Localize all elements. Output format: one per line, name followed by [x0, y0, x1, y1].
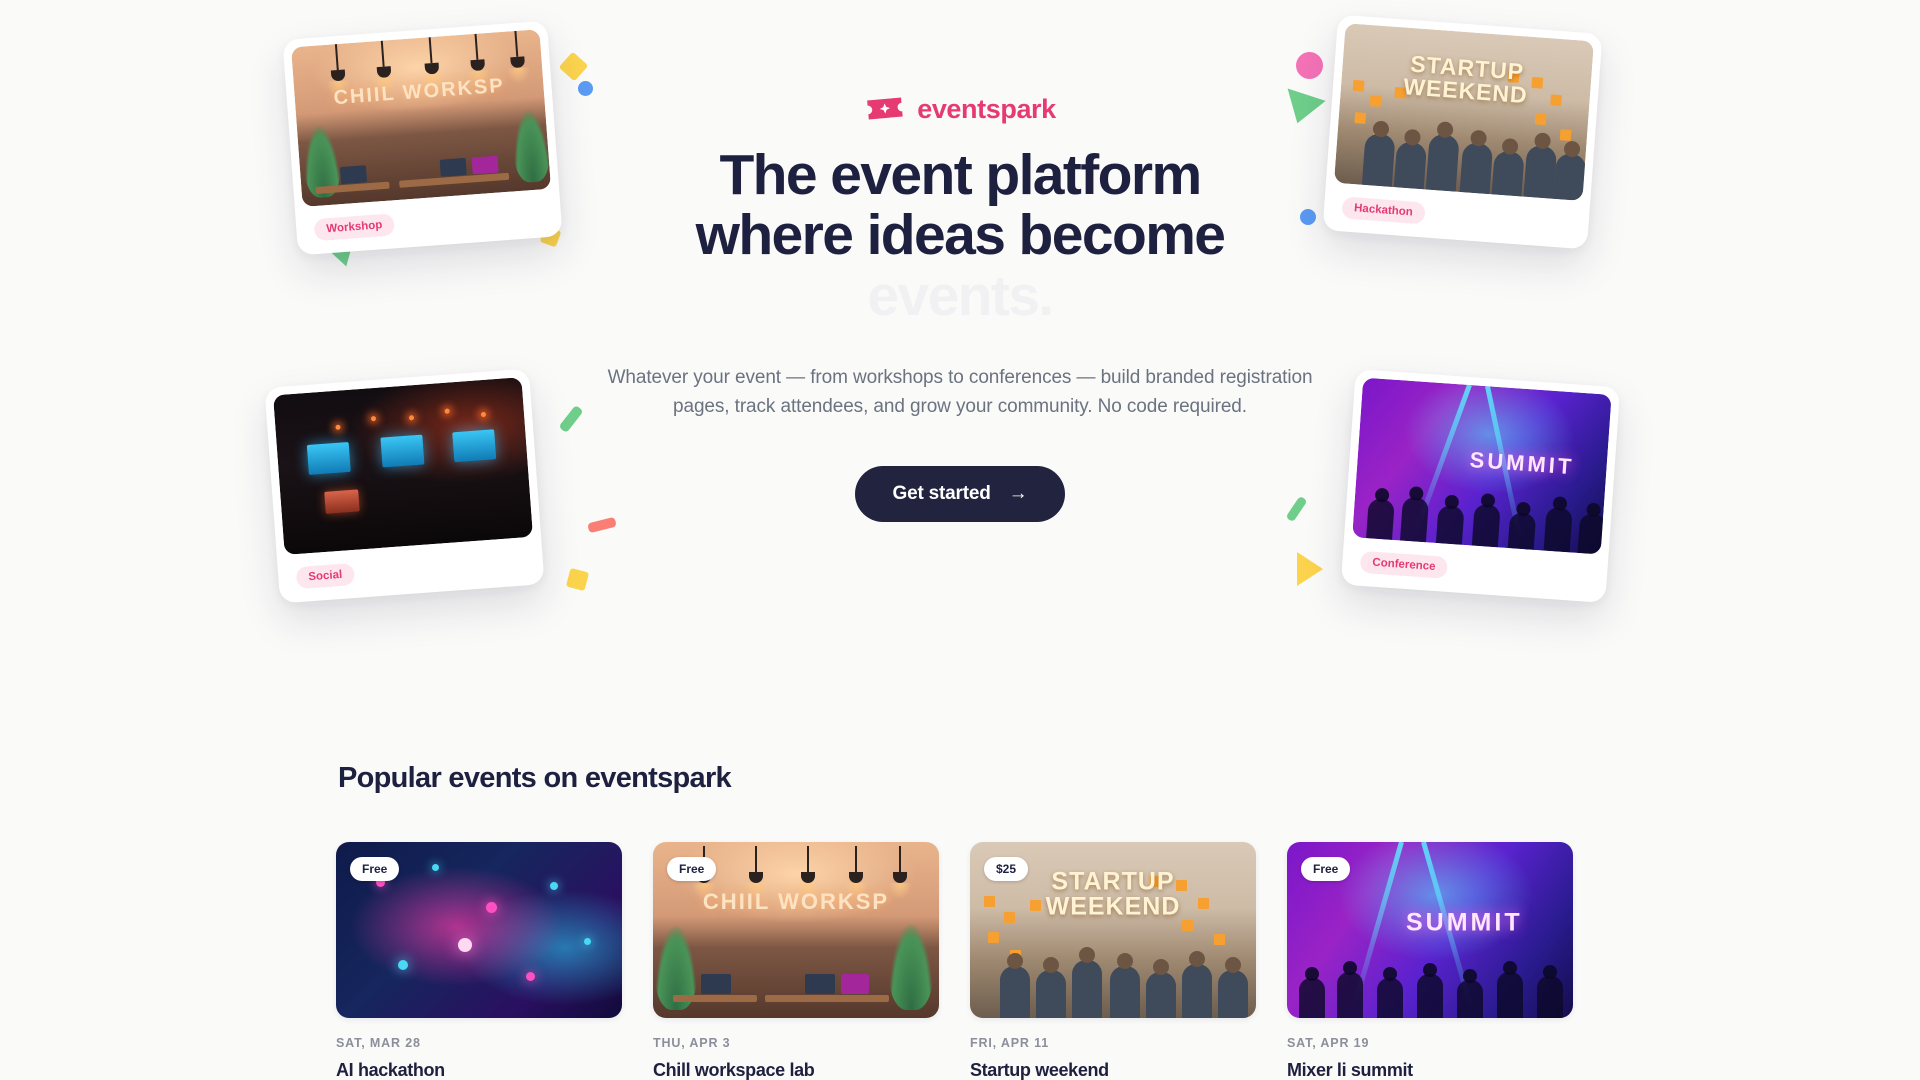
- floating-card-hackathon[interactable]: STARTUP WEEKEND Hackathon: [1322, 15, 1602, 250]
- photo-text: SUMMIT: [1406, 910, 1523, 936]
- category-badge: Workshop: [314, 213, 395, 241]
- ticket-sparkle-icon: [864, 96, 906, 123]
- hero-subtitle: Whatever your event — from workshops to …: [600, 364, 1320, 422]
- headline-line-3: events.: [867, 264, 1052, 328]
- headline-line-1: The event platform: [719, 143, 1200, 207]
- brand-logo[interactable]: eventspark: [600, 96, 1320, 123]
- photo-text: SUMMIT: [1469, 449, 1575, 479]
- decor-yellow-triangle-right: [1297, 552, 1323, 586]
- event-thumbnail: Free CHIIL WORKSP: [653, 842, 939, 1018]
- decor-pink-circle-right: [1296, 52, 1323, 79]
- brand-wordmark: eventspark: [917, 96, 1056, 123]
- photo-startup-weekend: STARTUP WEEKEND: [1334, 23, 1594, 201]
- event-date: SAT, MAR 28: [336, 1036, 622, 1050]
- decor-yellow-diamond: [559, 52, 589, 82]
- photo-conference-summit: SUMMIT: [1352, 378, 1612, 555]
- floating-card-workshop[interactable]: CHIIL WORKSP Workshop: [282, 21, 562, 256]
- price-badge: $25: [984, 857, 1028, 881]
- decor-green-bar: [558, 405, 583, 433]
- event-date: SAT, APR 19: [1287, 1036, 1573, 1050]
- card-thumbnail: SUMMIT: [1352, 378, 1612, 555]
- price-badge: Free: [667, 857, 716, 881]
- get-started-label: Get started: [893, 483, 991, 505]
- card-thumbnail: [273, 377, 533, 555]
- event-thumbnail: Free SUMMIT: [1287, 842, 1573, 1018]
- card-thumbnail: STARTUP WEEKEND: [1334, 23, 1594, 201]
- event-card[interactable]: Free SAT, MAR 28 AI hackathon: [336, 842, 622, 1080]
- price-badge: Free: [350, 857, 399, 881]
- decor-yellow-square-bottomleft: [566, 568, 589, 591]
- photo-chill-workspace: CHIIL WORKSP: [291, 29, 551, 207]
- event-card[interactable]: $25: [970, 842, 1256, 1080]
- event-title: Mixer li summit: [1287, 1059, 1573, 1080]
- event-card[interactable]: Free SUMMIT SAT, APR 19: [1287, 842, 1573, 1080]
- popular-events-section: Popular events on eventspark Free: [0, 762, 1920, 1080]
- event-title: Startup weekend: [970, 1059, 1256, 1080]
- headline-line-2: where ideas become: [696, 203, 1225, 267]
- floating-card-social[interactable]: Social: [264, 369, 544, 604]
- hero-content: eventspark The event platform where idea…: [600, 96, 1320, 522]
- hero-section: CHIIL WORKSP Workshop: [0, 0, 1920, 700]
- event-card[interactable]: Free CHIIL WORKSP: [653, 842, 939, 1080]
- event-thumbnail: $25: [970, 842, 1256, 1018]
- photo-social-hackerspace: [273, 377, 533, 555]
- event-title: AI hackathon: [336, 1059, 622, 1080]
- decor-blue-circle: [578, 81, 593, 96]
- events-grid: Free SAT, MAR 28 AI hackathon: [336, 842, 1584, 1080]
- page-title: The event platform where ideas become ev…: [600, 145, 1320, 326]
- section-title: Popular events on eventspark: [338, 762, 1920, 795]
- event-thumbnail: Free: [336, 842, 622, 1018]
- category-badge: Hackathon: [1341, 196, 1425, 224]
- price-badge: Free: [1301, 857, 1350, 881]
- event-date: FRI, APR 11: [970, 1036, 1256, 1050]
- event-title: Chill workspace lab: [653, 1059, 939, 1080]
- get-started-button[interactable]: Get started →: [855, 466, 1066, 522]
- category-badge: Social: [296, 563, 355, 589]
- category-badge: Conference: [1360, 551, 1449, 579]
- arrow-right-icon: →: [1009, 484, 1028, 503]
- landing-page: CHIIL WORKSP Workshop: [0, 0, 1920, 1080]
- cta-container: Get started →: [600, 466, 1320, 522]
- floating-card-conference[interactable]: SUMMIT Conference: [1341, 369, 1620, 603]
- event-date: THU, APR 3: [653, 1036, 939, 1050]
- card-thumbnail: CHIIL WORKSP: [291, 29, 551, 207]
